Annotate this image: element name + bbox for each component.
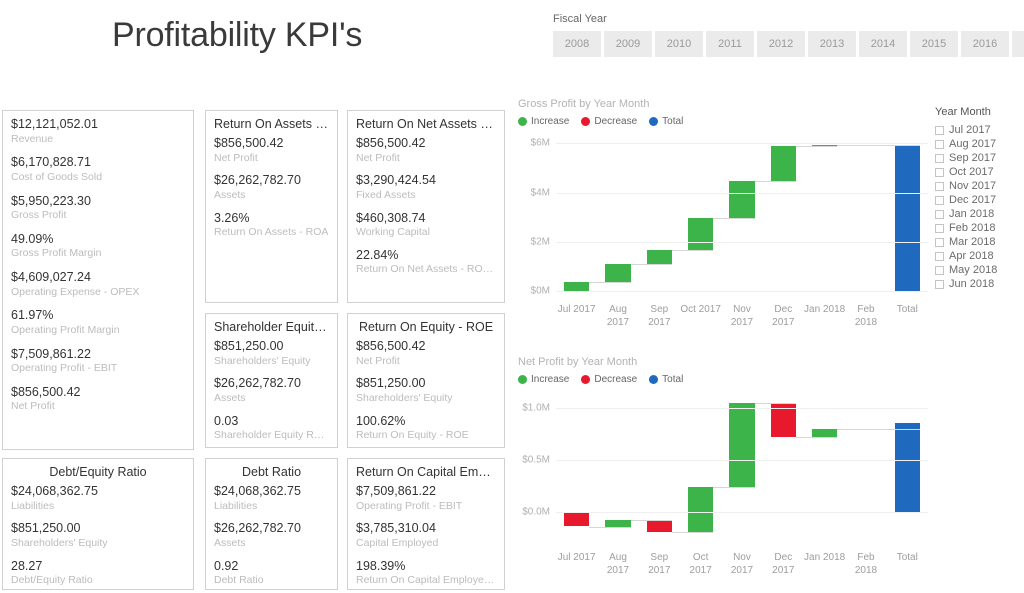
legend-item-total[interactable]: Total xyxy=(649,116,683,127)
kpi-row: $856,500.42Net Profit xyxy=(356,136,496,165)
card-title: Debt Ratio xyxy=(214,465,329,479)
legend-item-decrease[interactable]: Decrease xyxy=(581,374,637,385)
legend-label: Decrease xyxy=(594,116,637,127)
kpi-value: $856,500.42 xyxy=(11,385,185,401)
kpi-row: 61.97%Operating Profit Margin xyxy=(11,308,185,337)
waterfall-connector xyxy=(796,146,837,147)
waterfall-connector xyxy=(672,250,713,251)
dashboard-page: Profitability KPI's Fiscal Year 20082009… xyxy=(0,0,1024,593)
kpi-label: Capital Employed xyxy=(356,537,496,551)
year-month-option-label: Feb 2018 xyxy=(949,222,995,234)
kpi-label: Shareholders' Equity xyxy=(356,392,496,406)
kpi-value: 49.09% xyxy=(11,232,185,248)
fiscal-year-label: Fiscal Year xyxy=(553,13,1024,25)
page-title: Profitability KPI's xyxy=(112,16,362,55)
legend-label: Decrease xyxy=(594,374,637,385)
year-month-option[interactable]: Jul 2017 xyxy=(935,124,1023,136)
kpi-row: $3,785,310.04Capital Employed xyxy=(356,521,496,550)
kpi-value: 198.39% xyxy=(356,559,496,575)
kpi-label: Operating Profit - EBIT xyxy=(11,362,185,376)
waterfall-connector xyxy=(589,527,630,528)
waterfall-connector xyxy=(796,437,837,438)
kpi-row: 49.09%Gross Profit Margin xyxy=(11,232,185,261)
year-month-option[interactable]: May 2018 xyxy=(935,264,1023,276)
kpi-label: Net Profit xyxy=(11,400,185,414)
legend-swatch-icon xyxy=(518,117,527,126)
year-month-option-label: Jan 2018 xyxy=(949,208,994,220)
legend-label: Increase xyxy=(531,374,569,385)
kpi-row: $26,262,782.70Assets xyxy=(214,376,329,405)
grid-area xyxy=(556,389,928,539)
bar-total[interactable] xyxy=(895,423,921,512)
year-month-option-label: Aug 2017 xyxy=(949,138,996,150)
kpi-value: 3.26% xyxy=(214,211,329,227)
kpi-row: 3.26%Return On Assets - ROA xyxy=(214,211,329,240)
gridline xyxy=(556,291,928,292)
waterfall-connector xyxy=(879,429,920,430)
waterfall-connector xyxy=(879,145,920,146)
x-axis-tick-label: Aug 2017 xyxy=(597,552,638,577)
kpi-value: $460,308.74 xyxy=(356,211,496,227)
gridline xyxy=(556,193,928,194)
kpi-card-profitability-summary: $12,121,052.01Revenue$6,170,828.71Cost o… xyxy=(2,110,194,450)
kpi-label: Assets xyxy=(214,392,329,406)
fiscal-year-chip-2013[interactable]: 2013 xyxy=(808,31,856,57)
legend-item-decrease[interactable]: Decrease xyxy=(581,116,637,127)
grid-area xyxy=(556,131,928,291)
waterfall-connector xyxy=(672,532,713,533)
kpi-row: $851,250.00Shareholders' Equity xyxy=(356,376,496,405)
kpi-label: Return On Assets - ROA xyxy=(214,226,329,240)
kpi-label: Shareholders' Equity xyxy=(214,355,329,369)
x-axis: Jul 2017Aug 2017Sep 2017Oct 2017Nov 2017… xyxy=(556,552,928,577)
checkbox-icon[interactable] xyxy=(935,140,944,149)
kpi-label: Operating Profit - EBIT xyxy=(356,500,496,514)
legend-item-increase[interactable]: Increase xyxy=(518,116,569,127)
year-month-slicer: Year Month Jul 2017Aug 2017Sep 2017Oct 2… xyxy=(935,106,1023,292)
x-axis-tick-label: Nov 2017 xyxy=(721,304,762,329)
legend-label: Increase xyxy=(531,116,569,127)
kpi-label: Debt/Equity Ratio xyxy=(11,574,185,588)
kpi-card-debt-ratio: Debt Ratio$24,068,362.75Liabilities$26,2… xyxy=(205,458,338,590)
kpi-row: 0.03Shareholder Equity Ratio xyxy=(214,414,329,443)
kpi-row: $26,262,782.70Assets xyxy=(214,173,329,202)
kpi-label: Shareholders' Equity xyxy=(11,537,185,551)
kpi-value: $856,500.42 xyxy=(356,136,496,152)
kpi-value: $24,068,362.75 xyxy=(11,484,185,500)
kpi-card-return-on-equity: Return On Equity - ROE$856,500.42Net Pro… xyxy=(347,313,505,448)
kpi-label: Gross Profit Margin xyxy=(11,247,185,261)
fiscal-year-chip-2017[interactable]: 2017 xyxy=(1012,31,1024,57)
kpi-label: Assets xyxy=(214,189,329,203)
checkbox-icon[interactable] xyxy=(935,252,944,261)
kpi-row: $7,509,861.22Operating Profit - EBIT xyxy=(356,484,496,513)
kpi-row: $5,950,223.30Gross Profit xyxy=(11,194,185,223)
y-axis-tick-label: $4M xyxy=(531,187,550,198)
x-axis-tick-label: Nov 2017 xyxy=(721,552,762,577)
x-axis: Jul 2017Aug 2017Sep 2017Oct 2017Nov 2017… xyxy=(556,304,928,329)
bar-jul-2017[interactable] xyxy=(564,512,590,527)
legend-label: Total xyxy=(662,374,683,385)
year-month-option-label: May 2018 xyxy=(949,264,997,276)
waterfall-connector xyxy=(713,487,754,488)
x-axis-tick-label: Feb 2018 xyxy=(845,552,886,577)
gridline xyxy=(556,143,928,144)
y-axis-tick-label: $0.5M xyxy=(522,454,550,465)
bar-sep-2017[interactable] xyxy=(647,520,673,531)
year-month-option[interactable]: Apr 2018 xyxy=(935,250,1023,262)
kpi-row: $24,068,362.75Liabilities xyxy=(214,484,329,513)
kpi-label: Gross Profit xyxy=(11,209,185,223)
y-axis: $0M$2M$4M$6M xyxy=(518,131,554,291)
waterfall-connector xyxy=(631,264,672,265)
chart-plot-area: $0M$2M$4M$6M xyxy=(518,131,928,291)
kpi-row: $12,121,052.01Revenue xyxy=(11,117,185,146)
kpi-row: 28.27Debt/Equity Ratio xyxy=(11,559,185,588)
kpi-row: 100.62%Return On Equity - ROE xyxy=(356,414,496,443)
x-axis-tick-label: Dec 2017 xyxy=(763,552,804,577)
kpi-row: $26,262,782.70Assets xyxy=(214,521,329,550)
y-axis-tick-label: $0M xyxy=(531,286,550,297)
fiscal-year-slicer: Fiscal Year 2008200920102011201220132014… xyxy=(553,13,1024,57)
bar-oct-2017[interactable] xyxy=(688,218,714,250)
bar-nov-2017[interactable] xyxy=(729,403,755,487)
year-month-option-label: Apr 2018 xyxy=(949,250,994,262)
kpi-card-shareholder-equity-ratio: Shareholder Equity Ratio$851,250.00Share… xyxy=(205,313,338,448)
fiscal-year-chip-2015[interactable]: 2015 xyxy=(910,31,958,57)
chart-gross-profit-by-year-month: Gross Profit by Year Month IncreaseDecre… xyxy=(518,98,928,338)
kpi-value: 0.03 xyxy=(214,414,329,430)
kpi-value: 22.84% xyxy=(356,248,496,264)
legend-swatch-icon xyxy=(649,117,658,126)
year-month-slicer-title: Year Month xyxy=(935,106,1023,118)
year-month-option-label: Oct 2017 xyxy=(949,166,994,178)
x-axis-tick-label: Aug 2017 xyxy=(597,304,638,329)
kpi-row: $460,308.74Working Capital xyxy=(356,211,496,240)
x-axis-tick-label: Jul 2017 xyxy=(556,552,597,577)
kpi-value: $5,950,223.30 xyxy=(11,194,185,210)
checkbox-icon[interactable] xyxy=(935,168,944,177)
year-month-option[interactable]: Mar 2018 xyxy=(935,236,1023,248)
fiscal-year-chip-2014[interactable]: 2014 xyxy=(859,31,907,57)
kpi-row: 198.39%Return On Capital Employed - R... xyxy=(356,559,496,588)
checkbox-icon[interactable] xyxy=(935,126,944,135)
legend-item-total[interactable]: Total xyxy=(649,374,683,385)
year-month-options: Jul 2017Aug 2017Sep 2017Oct 2017Nov 2017… xyxy=(935,124,1023,290)
kpi-label: Return On Net Assets - RONA xyxy=(356,263,496,277)
fiscal-year-chip-2010[interactable]: 2010 xyxy=(655,31,703,57)
year-month-option-label: Nov 2017 xyxy=(949,180,996,192)
kpi-row: $7,509,861.22Operating Profit - EBIT xyxy=(11,347,185,376)
chart-legend: IncreaseDecreaseTotal xyxy=(518,374,928,385)
card-title: Return On Capital Employed ... xyxy=(356,465,496,479)
kpi-row: 0.92Debt Ratio xyxy=(214,559,329,588)
bar-total[interactable] xyxy=(895,145,921,291)
kpi-label: Assets xyxy=(214,537,329,551)
y-axis-tick-label: $0.0M xyxy=(522,506,550,517)
kpi-value: $856,500.42 xyxy=(214,136,329,152)
y-axis-tick-label: $2M xyxy=(531,236,550,247)
fiscal-year-chip-2008[interactable]: 2008 xyxy=(553,31,601,57)
kpi-row: $24,068,362.75Liabilities xyxy=(11,484,185,513)
x-axis-tick-label: Total xyxy=(887,552,928,577)
kpi-label: Net Profit xyxy=(214,152,329,166)
x-axis-tick-label: Oct 2017 xyxy=(680,552,721,577)
year-month-option[interactable]: Oct 2017 xyxy=(935,166,1023,178)
x-axis-tick-label: Sep 2017 xyxy=(639,304,680,329)
kpi-label: Shareholder Equity Ratio xyxy=(214,429,329,443)
year-month-option[interactable]: Jan 2018 xyxy=(935,208,1023,220)
card-title: Return On Net Assets - RONA xyxy=(356,117,496,131)
waterfall-connector xyxy=(589,282,630,283)
kpi-label: Return On Equity - ROE xyxy=(356,429,496,443)
kpi-row: 22.84%Return On Net Assets - RONA xyxy=(356,248,496,277)
bar-sep-2017[interactable] xyxy=(647,250,673,265)
kpi-value: $4,609,027.24 xyxy=(11,270,185,286)
bars-layer xyxy=(556,131,928,291)
kpi-row: $856,500.42Net Profit xyxy=(11,385,185,414)
year-month-option[interactable]: Dec 2017 xyxy=(935,194,1023,206)
kpi-label: Return On Capital Employed - R... xyxy=(356,574,496,588)
card-title: Return On Assets - ROA xyxy=(214,117,329,131)
kpi-value: $26,262,782.70 xyxy=(214,521,329,537)
waterfall-connector xyxy=(755,181,796,182)
kpi-label: Net Profit xyxy=(356,355,496,369)
kpi-card-debt-equity-ratio: Debt/Equity Ratio$24,068,362.75Liabiliti… xyxy=(2,458,194,590)
kpi-value: $3,290,424.54 xyxy=(356,173,496,189)
gridline xyxy=(556,242,928,243)
x-axis-tick-label: Dec 2017 xyxy=(763,304,804,329)
x-axis-tick-label: Jan 2018 xyxy=(804,304,845,329)
chart-plot-area: $0.0M$0.5M$1.0M xyxy=(518,389,928,539)
year-month-option-label: Dec 2017 xyxy=(949,194,996,206)
kpi-value: $851,250.00 xyxy=(214,339,329,355)
checkbox-icon[interactable] xyxy=(935,224,944,233)
x-axis-tick-label: Jul 2017 xyxy=(556,304,597,329)
kpi-value: $24,068,362.75 xyxy=(214,484,329,500)
fiscal-year-options: 2008200920102011201220132014201520162017… xyxy=(553,31,1024,57)
kpi-value: 28.27 xyxy=(11,559,185,575)
kpi-label: Operating Expense - OPEX xyxy=(11,286,185,300)
year-month-option[interactable]: Sep 2017 xyxy=(935,152,1023,164)
checkbox-icon[interactable] xyxy=(935,182,944,191)
kpi-label: Working Capital xyxy=(356,226,496,240)
year-month-option-label: Jul 2017 xyxy=(949,124,991,136)
bar-aug-2017[interactable] xyxy=(605,264,631,281)
checkbox-icon[interactable] xyxy=(935,280,944,289)
kpi-label: Liabilities xyxy=(11,500,185,514)
kpi-value: $6,170,828.71 xyxy=(11,155,185,171)
legend-swatch-icon xyxy=(649,375,658,384)
kpi-row: $6,170,828.71Cost of Goods Sold xyxy=(11,155,185,184)
checkbox-icon[interactable] xyxy=(935,154,944,163)
kpi-value: $851,250.00 xyxy=(11,521,185,537)
chart-net-profit-by-year-month: Net Profit by Year Month IncreaseDecreas… xyxy=(518,356,928,588)
kpi-row: $856,500.42Net Profit xyxy=(214,136,329,165)
x-axis-tick-label: Total xyxy=(887,304,928,329)
kpi-card-return-on-capital-employed: Return On Capital Employed ...$7,509,861… xyxy=(347,458,505,590)
kpi-row: $3,290,424.54Fixed Assets xyxy=(356,173,496,202)
kpi-label: Operating Profit Margin xyxy=(11,324,185,338)
chart-legend: IncreaseDecreaseTotal xyxy=(518,116,928,127)
chart-title: Net Profit by Year Month xyxy=(518,356,928,368)
kpi-label: Revenue xyxy=(11,133,185,147)
card-title: Shareholder Equity Ratio xyxy=(214,320,329,334)
waterfall-connector xyxy=(837,429,878,430)
waterfall-connector xyxy=(755,403,796,404)
gridline xyxy=(556,460,928,461)
kpi-label: Cost of Goods Sold xyxy=(11,171,185,185)
bar-oct-2017[interactable] xyxy=(688,487,714,532)
kpi-value: 61.97% xyxy=(11,308,185,324)
chart-title: Gross Profit by Year Month xyxy=(518,98,928,110)
legend-swatch-icon xyxy=(581,375,590,384)
bars-layer xyxy=(556,389,928,539)
kpi-value: $856,500.42 xyxy=(356,339,496,355)
bar-jul-2017[interactable] xyxy=(564,282,590,291)
gridline xyxy=(556,408,928,409)
kpi-value: 100.62% xyxy=(356,414,496,430)
fiscal-year-chip-2011[interactable]: 2011 xyxy=(706,31,754,57)
y-axis: $0.0M$0.5M$1.0M xyxy=(518,389,554,539)
checkbox-icon[interactable] xyxy=(935,196,944,205)
legend-item-increase[interactable]: Increase xyxy=(518,374,569,385)
checkbox-icon[interactable] xyxy=(935,266,944,275)
kpi-row: $851,250.00Shareholders' Equity xyxy=(214,339,329,368)
x-axis-tick-label: Sep 2017 xyxy=(639,552,680,577)
kpi-card-return-on-net-assets: Return On Net Assets - RONA$856,500.42Ne… xyxy=(347,110,505,303)
kpi-label: Liabilities xyxy=(214,500,329,514)
kpi-value: $7,509,861.22 xyxy=(356,484,496,500)
x-axis-tick-label: Feb 2018 xyxy=(845,304,886,329)
kpi-label: Debt Ratio xyxy=(214,574,329,588)
x-axis-tick-label: Jan 2018 xyxy=(804,552,845,577)
kpi-label: Net Profit xyxy=(356,152,496,166)
y-axis-tick-label: $6M xyxy=(531,138,550,149)
fiscal-year-chip-2012[interactable]: 2012 xyxy=(757,31,805,57)
gridline xyxy=(556,512,928,513)
year-month-option[interactable]: Feb 2018 xyxy=(935,222,1023,234)
y-axis-tick-label: $1.0M xyxy=(522,402,550,413)
kpi-card-return-on-assets: Return On Assets - ROA$856,500.42Net Pro… xyxy=(205,110,338,303)
year-month-option[interactable]: Jun 2018 xyxy=(935,278,1023,290)
waterfall-connector xyxy=(631,520,672,521)
kpi-value: $851,250.00 xyxy=(356,376,496,392)
kpi-row: $851,250.00Shareholders' Equity xyxy=(11,521,185,550)
waterfall-connector xyxy=(837,145,878,146)
bar-dec-2017[interactable] xyxy=(771,146,797,181)
legend-label: Total xyxy=(662,116,683,127)
kpi-value: $26,262,782.70 xyxy=(214,173,329,189)
year-month-option-label: Mar 2018 xyxy=(949,236,995,248)
kpi-value: $7,509,861.22 xyxy=(11,347,185,363)
year-month-option[interactable]: Aug 2017 xyxy=(935,138,1023,150)
kpi-value: $12,121,052.01 xyxy=(11,117,185,133)
kpi-row: $856,500.42Net Profit xyxy=(356,339,496,368)
year-month-option-label: Jun 2018 xyxy=(949,278,994,290)
year-month-option-label: Sep 2017 xyxy=(949,152,996,164)
kpi-value: 0.92 xyxy=(214,559,329,575)
year-month-option[interactable]: Nov 2017 xyxy=(935,180,1023,192)
legend-swatch-icon xyxy=(581,117,590,126)
fiscal-year-chip-2009[interactable]: 2009 xyxy=(604,31,652,57)
x-axis-tick-label: Oct 2017 xyxy=(680,304,721,329)
checkbox-icon[interactable] xyxy=(935,210,944,219)
waterfall-connector xyxy=(713,218,754,219)
card-title: Return On Equity - ROE xyxy=(356,320,496,334)
bar-jan-2018[interactable] xyxy=(812,429,838,437)
fiscal-year-chip-2016[interactable]: 2016 xyxy=(961,31,1009,57)
bar-nov-2017[interactable] xyxy=(729,181,755,218)
kpi-value: $3,785,310.04 xyxy=(356,521,496,537)
card-title: Debt/Equity Ratio xyxy=(11,465,185,479)
kpi-value: $26,262,782.70 xyxy=(214,376,329,392)
legend-swatch-icon xyxy=(518,375,527,384)
kpi-row: $4,609,027.24Operating Expense - OPEX xyxy=(11,270,185,299)
checkbox-icon[interactable] xyxy=(935,238,944,247)
kpi-label: Fixed Assets xyxy=(356,189,496,203)
